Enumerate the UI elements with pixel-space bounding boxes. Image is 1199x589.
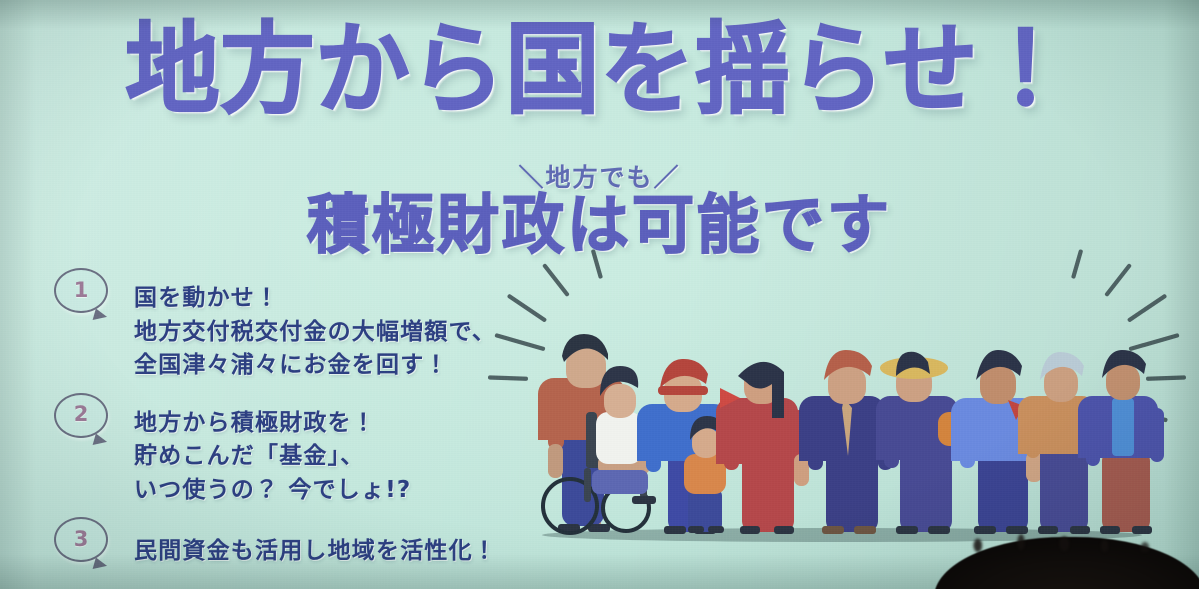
speech-bubble-icon: 2	[54, 393, 108, 438]
point-number: 2	[56, 394, 106, 435]
subtitle-headline: 積極財政は可能です	[307, 191, 892, 259]
point-line: 貯めこんだ「基金」、	[134, 440, 526, 474]
point-line: 地方交付税交付金の大幅増額で、	[134, 316, 526, 350]
point-number: 3	[56, 518, 106, 559]
point-line: 地方から積極財政を！	[134, 407, 526, 441]
list-item: 3 民間資金も活用し地域を活性化！	[46, 517, 526, 575]
point-line: いつ使うの？ 今でしょ!?	[134, 474, 526, 508]
list-item: 2 地方から積極財政を！ 貯めこんだ「基金」、 いつ使うの？ 今でしょ!?	[46, 393, 526, 508]
audience-head-silhouette	[934, 537, 1199, 589]
point-text: 国を動かせ！ 地方交付税交付金の大幅増額で、 全国津々浦々にお金を回す！	[134, 268, 526, 383]
subtitle-area: 積極財政は可能です	[0, 192, 1199, 257]
point-number: 1	[56, 269, 106, 310]
diverse-group-illustration	[492, 292, 1182, 550]
points-list: 1 国を動かせ！ 地方交付税交付金の大幅増額で、 全国津々浦々にお金を回す！ 2…	[46, 268, 526, 575]
point-line: 国を動かせ！	[134, 282, 526, 316]
crowd-figures	[538, 334, 1164, 534]
point-line: 全国津々浦々にお金を回す！	[134, 349, 526, 383]
point-text: 民間資金も活用し地域を活性化！	[134, 517, 526, 569]
point-text: 地方から積極財政を！ 貯めこんだ「基金」、 いつ使うの？ 今でしょ!?	[134, 393, 526, 508]
slide-photo: 地方から国を揺らせ！ ＼地方でも／ 積極財政は可能です 1 国を動かせ！ 地方交…	[0, 0, 1199, 589]
speech-bubble-icon: 3	[54, 517, 108, 562]
figure-woman-red	[716, 362, 809, 534]
list-item: 1 国を動かせ！ 地方交付税交付金の大幅増額で、 全国津々浦々にお金を回す！	[46, 268, 526, 383]
point-line: 民間資金も活用し地域を活性化！	[134, 535, 526, 569]
speech-bubble-icon: 1	[54, 268, 108, 313]
